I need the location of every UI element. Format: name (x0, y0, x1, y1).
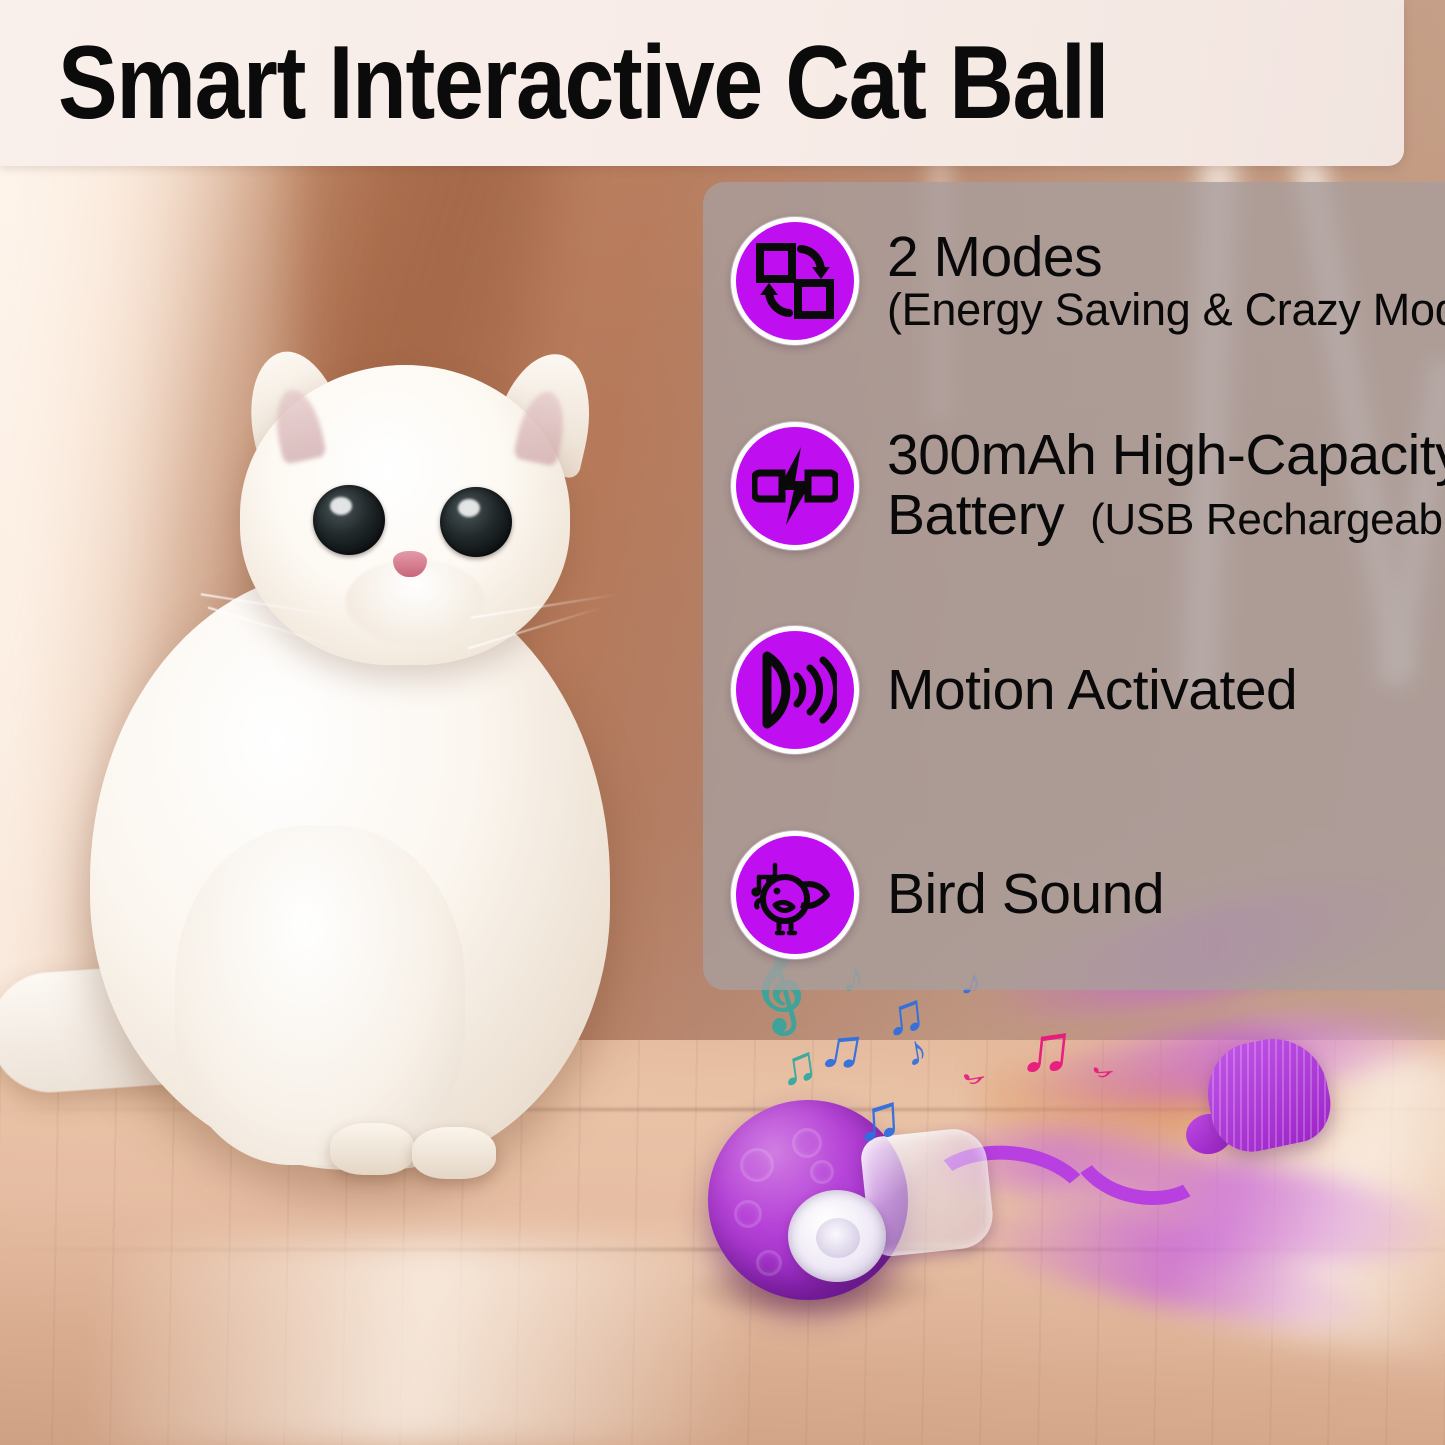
cat-eye-highlight (330, 497, 352, 515)
feature-text-battery: 300mAh High-Capacity Battery (USB Rechar… (887, 426, 1445, 545)
feature-row-modes[interactable]: 2 Modes (Energy Saving & Crazy Mode) (731, 206, 1435, 356)
ball-emboss-paw (734, 1200, 762, 1228)
cat-paw (330, 1123, 414, 1175)
singing-bird-icon (731, 831, 859, 959)
music-note: ♫ (1016, 1009, 1077, 1086)
swap-modes-icon (731, 217, 859, 345)
feature-row-battery[interactable]: 300mAh High-Capacity Battery (USB Rechar… (731, 411, 1435, 561)
music-note: ♫ (853, 1084, 904, 1150)
feature-row-bird[interactable]: Bird Sound (731, 820, 1435, 970)
page-title: Smart Interactive Cat Ball (58, 31, 1108, 135)
feature-title: 2 Modes (887, 228, 1445, 287)
feature-title: 300mAh High-Capacity (887, 426, 1445, 485)
ball-emboss-paw (792, 1128, 822, 1158)
cat-eye-right (440, 487, 512, 557)
music-note: ♫ (776, 1038, 822, 1095)
ball-emboss-paw (756, 1250, 782, 1276)
feature-text-modes: 2 Modes (Energy Saving & Crazy Mode) (887, 228, 1445, 334)
battery-bolt-icon (731, 422, 859, 550)
ball-emboss-paw (740, 1148, 774, 1182)
title-banner: Smart Interactive Cat Ball (0, 0, 1404, 166)
feature-text-bird: Bird Sound (887, 865, 1164, 924)
cat-eye-highlight (458, 499, 480, 517)
floor-gloss-highlight (100, 1240, 740, 1445)
feature-list-panel: 2 Modes (Energy Saving & Crazy Mode) 300… (703, 182, 1445, 990)
cat-chest (175, 825, 465, 1165)
feature-row-motion[interactable]: Motion Activated (731, 615, 1435, 765)
feature-title: Bird Sound (887, 865, 1164, 924)
cat-photo-subject (0, 355, 720, 1185)
feature-subtitle: (USB Rechargeable) (1090, 497, 1445, 543)
motion-wave-icon (731, 626, 859, 754)
cat-paw (412, 1127, 496, 1179)
feature-title-cont: Battery (887, 486, 1064, 545)
feature-text-motion: Motion Activated (887, 661, 1297, 720)
cat-ball-product (700, 1090, 1000, 1320)
ball-lens-core (816, 1218, 860, 1258)
music-note: ♪ (1087, 1062, 1122, 1081)
feature-title-line2: Battery (USB Rechargeable) (887, 486, 1445, 545)
ball-emboss-paw (810, 1160, 834, 1184)
cat-eye-left (313, 485, 385, 555)
product-marketing-image: 𝄞♪♫♪♫♪♫♫♪♪♫ Smart Interactive Cat Ball 2… (0, 0, 1445, 1445)
feature-subtitle: (Energy Saving & Crazy Mode) (887, 287, 1445, 334)
feature-title: Motion Activated (887, 661, 1297, 720)
